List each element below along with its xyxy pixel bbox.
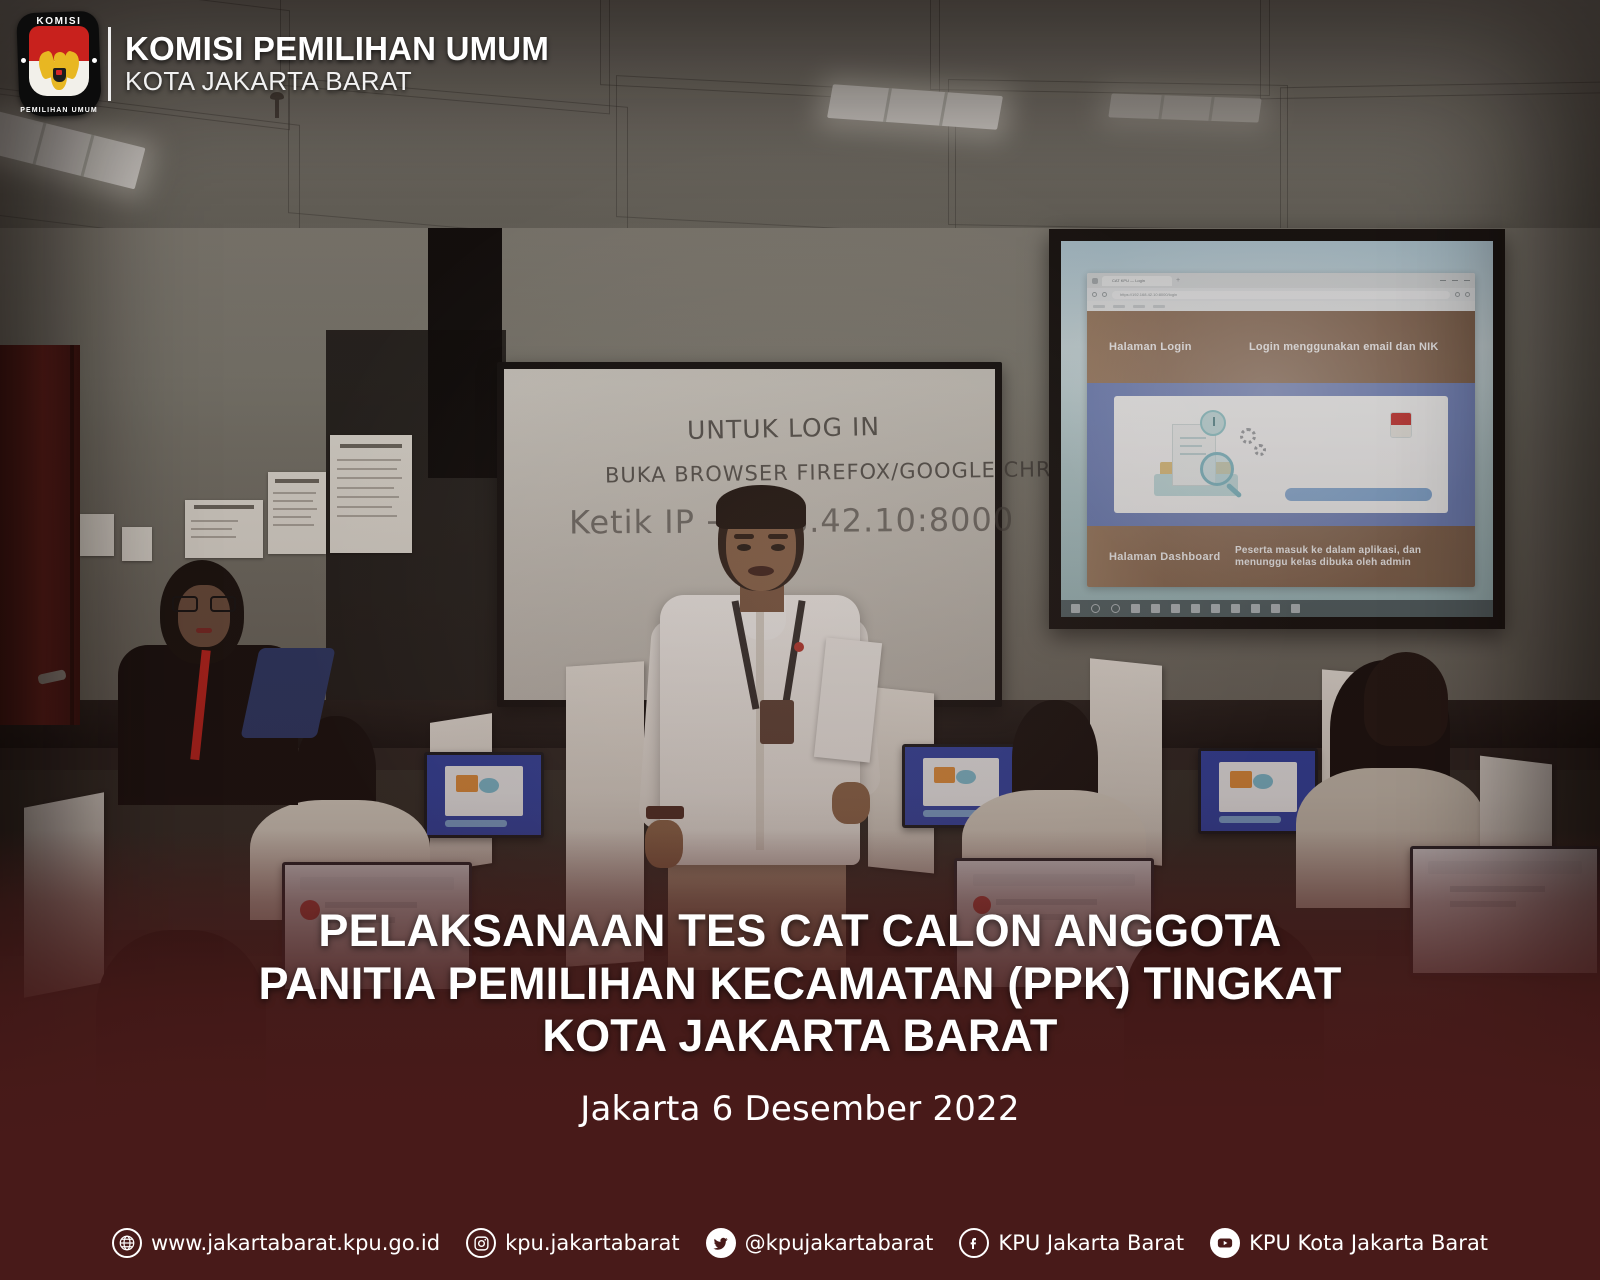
poster-root: UNTUK LOG IN BUKA BROWSER FIREFOX/GOOGLE…: [0, 0, 1600, 1280]
caption-line-2: PANITIA PEMILIHAN KECAMATAN (PPK) TINGKA…: [0, 958, 1600, 1011]
globe-icon: [112, 1228, 142, 1258]
footer-label-facebook: KPU Jakarta Barat: [998, 1231, 1184, 1255]
caption-date: Jakarta 6 Desember 2022: [0, 1089, 1600, 1129]
wall-notice: [268, 472, 326, 554]
footer-item-instagram[interactable]: kpu.jakartabarat: [466, 1228, 680, 1258]
kpu-logo-icon: KOMISI PEMILIHAN UMUM: [18, 12, 100, 116]
computer-monitor: [424, 752, 544, 838]
seated-staff-lips: [196, 628, 212, 633]
presenter-eyebrow: [768, 534, 788, 539]
wall-notice: [185, 500, 263, 558]
poster-header: KOMISI PEMILIHAN UMUM KOMISI PEMILIHAN U…: [0, 0, 1600, 128]
footer-band: [0, 1155, 1600, 1280]
presenter-id-badge: [760, 700, 794, 744]
caption-line-3: KOTA JAKARTA BARAT: [0, 1010, 1600, 1063]
social-footer: www.jakartabarat.kpu.go.id kpu.jakartaba…: [0, 1228, 1600, 1258]
presenter-eye: [737, 544, 751, 551]
header-divider: [108, 27, 111, 101]
presenter-hand-left: [645, 820, 683, 868]
seated-staff-face: [178, 585, 230, 647]
presenter-hand-right: [832, 782, 870, 824]
presenter-mouth: [748, 566, 774, 576]
caption-line-1: PELAKSANAAN TES CAT CALON ANGGOTA: [0, 905, 1600, 958]
footer-label-website: www.jakartabarat.kpu.go.id: [151, 1231, 440, 1255]
poster-caption: PELAKSANAAN TES CAT CALON ANGGOTA PANITI…: [0, 905, 1600, 1129]
presenter-eye: [771, 544, 785, 551]
presenter-hair: [716, 485, 806, 529]
footer-item-website[interactable]: www.jakartabarat.kpu.go.id: [112, 1228, 440, 1258]
logo-bottom-text: PEMILIHAN UMUM: [18, 107, 100, 114]
twitter-icon: [706, 1228, 736, 1258]
projector-screen: CAT KPU — Login + https://192.168.42.10:…: [1049, 229, 1505, 629]
youtube-icon: [1210, 1228, 1240, 1258]
red-door: [0, 345, 80, 725]
wall-notice: [122, 527, 152, 561]
footer-label-instagram: kpu.jakartabarat: [505, 1231, 680, 1255]
organisation-name: KOMISI PEMILIHAN UMUM: [125, 32, 549, 67]
footer-label-twitter: @kpujakartabarat: [745, 1231, 934, 1255]
seated-participant: [1364, 652, 1448, 746]
instagram-icon: [466, 1228, 496, 1258]
eyeglasses-icon: [172, 596, 236, 612]
organisation-region: KOTA JAKARTA BARAT: [125, 67, 549, 96]
wall-notice: [80, 514, 114, 556]
footer-item-twitter[interactable]: @kpujakartabarat: [706, 1228, 934, 1258]
presenter-eyebrow: [734, 534, 754, 539]
footer-item-facebook[interactable]: KPU Jakarta Barat: [959, 1228, 1184, 1258]
wall-notice: [330, 435, 412, 553]
facebook-icon: [959, 1228, 989, 1258]
presenter-wristwatch: [646, 806, 684, 819]
presenter-lapel-pin: [794, 642, 804, 652]
whiteboard-line-1: UNTUK LOG IN: [687, 412, 881, 445]
footer-item-youtube[interactable]: KPU Kota Jakarta Barat: [1210, 1228, 1488, 1258]
garuda-emblem-icon: [39, 52, 79, 96]
footer-label-youtube: KPU Kota Jakarta Barat: [1249, 1231, 1488, 1255]
